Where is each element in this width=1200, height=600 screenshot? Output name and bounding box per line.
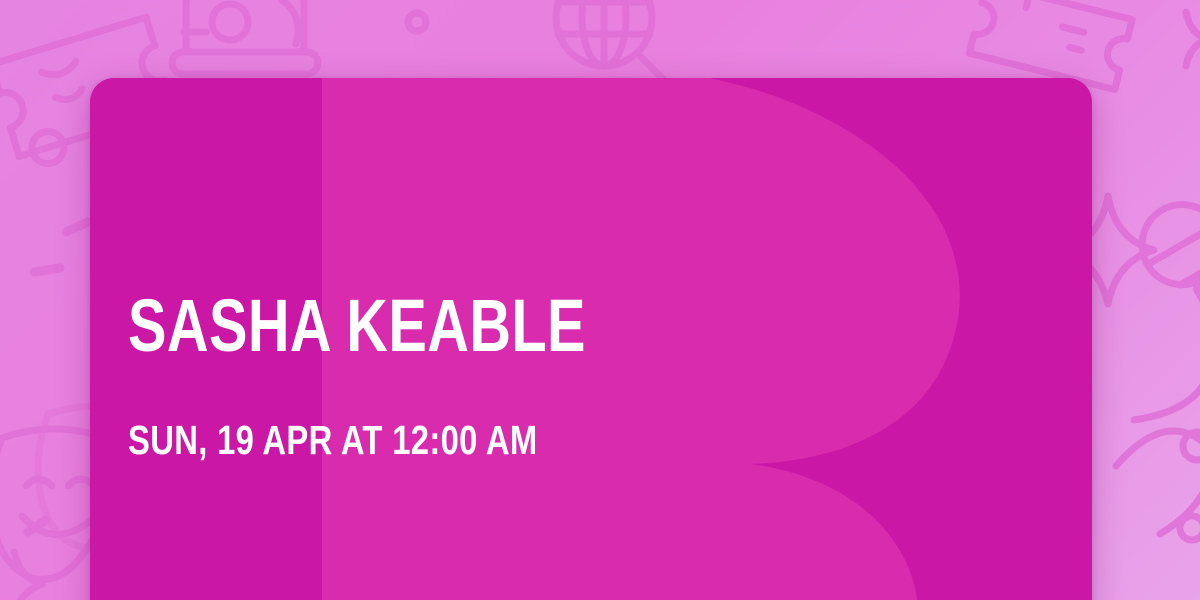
ticket-stub-icon (969, 0, 1135, 89)
page-title: SASHA KEABLE (128, 284, 586, 368)
turntable-icon (172, 0, 318, 74)
event-card[interactable]: SASHA KEABLE SUN, 19 APR AT 12:00 AM (90, 78, 1092, 600)
globe-icon (556, 0, 664, 80)
event-datetime: SUN, 19 APR AT 12:00 AM (128, 416, 538, 464)
event-card-content: SASHA KEABLE SUN, 19 APR AT 12:00 AM (128, 78, 1054, 600)
event-card-stage: SASHA KEABLE SUN, 19 APR AT 12:00 AM (0, 0, 1200, 600)
balloon-string-icon (1116, 362, 1200, 540)
